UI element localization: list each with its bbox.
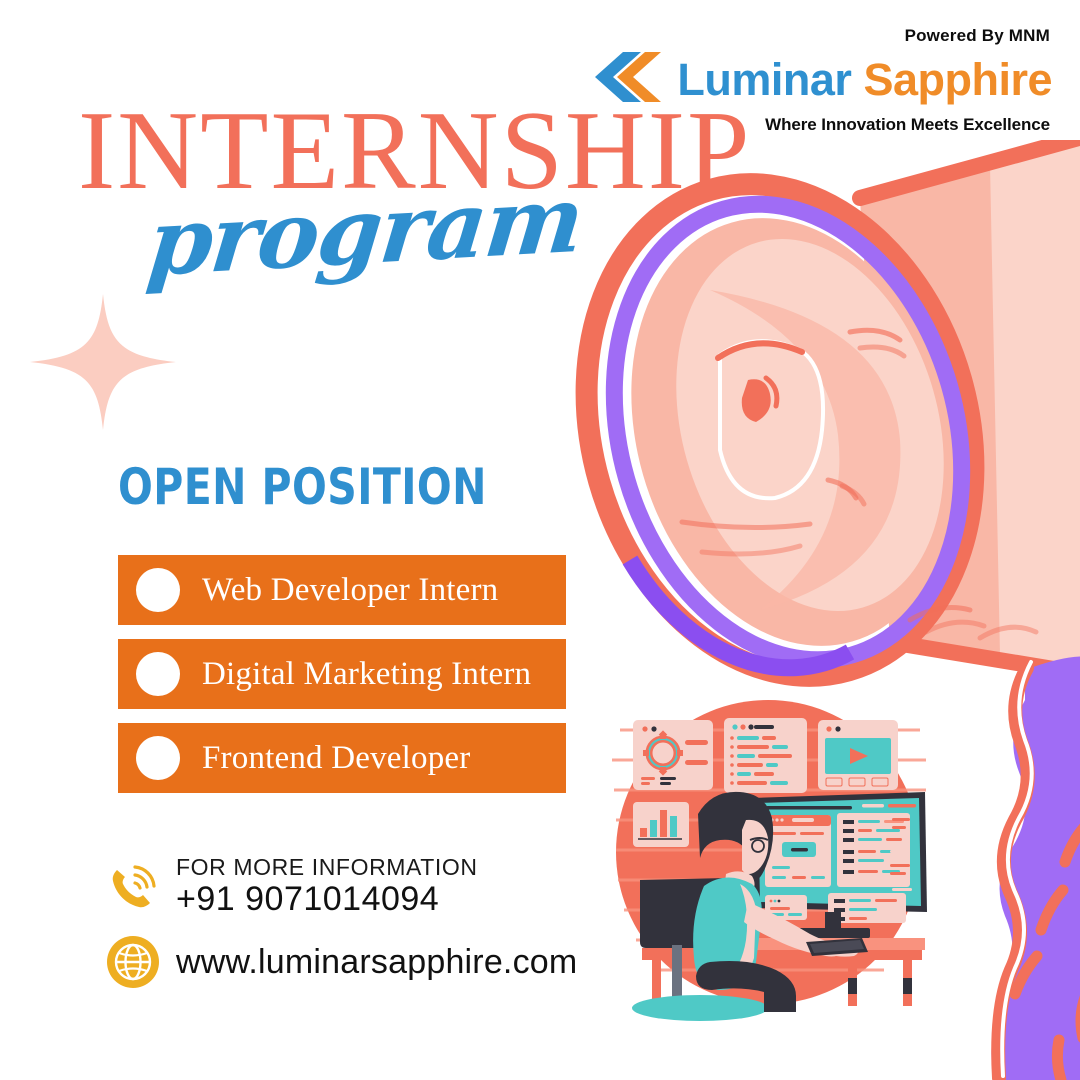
list-item-label: Web Developer Intern bbox=[202, 572, 498, 609]
circle-bullet-icon bbox=[136, 652, 180, 696]
globe-icon bbox=[104, 933, 162, 991]
brand-word-sapphire: Sapphire bbox=[863, 54, 1052, 105]
powered-by-label: Powered By MNM bbox=[612, 26, 1050, 46]
list-item[interactable]: Frontend Developer bbox=[118, 723, 566, 793]
contact-phone-text: FOR MORE INFORMATION +91 9071014094 bbox=[176, 855, 478, 919]
contact-website-row[interactable]: www.luminarsapphire.com bbox=[104, 933, 604, 991]
contact-website-text: www.luminarsapphire.com bbox=[176, 943, 577, 982]
list-item[interactable]: Digital Marketing Intern bbox=[118, 639, 566, 709]
contact-phone-row[interactable]: FOR MORE INFORMATION +91 9071014094 bbox=[104, 855, 604, 919]
internship-poster: Powered By MNM Luminar Sapphire Where In… bbox=[0, 0, 1080, 1080]
page-title-open-position: OPEN POSITION bbox=[118, 458, 487, 516]
phone-ringing-icon bbox=[104, 858, 162, 916]
contact-more-info-label: FOR MORE INFORMATION bbox=[176, 855, 478, 880]
circle-bullet-icon bbox=[136, 568, 180, 612]
open-position-list: Web Developer Intern Digital Marketing I… bbox=[118, 555, 566, 807]
list-item-label: Frontend Developer bbox=[202, 740, 470, 777]
list-item-label: Digital Marketing Intern bbox=[202, 656, 531, 693]
circle-bullet-icon bbox=[136, 736, 180, 780]
contact-block: FOR MORE INFORMATION +91 9071014094 www.… bbox=[104, 855, 604, 1005]
megaphone-icon bbox=[560, 140, 1080, 720]
list-item[interactable]: Web Developer Intern bbox=[118, 555, 566, 625]
contact-phone-number: +91 9071014094 bbox=[176, 880, 478, 919]
four-point-star-icon bbox=[28, 292, 178, 432]
page-title-program: program bbox=[144, 173, 586, 289]
contact-website-url: www.luminarsapphire.com bbox=[176, 943, 577, 982]
person-at-computer-desk-icon bbox=[600, 690, 1000, 1035]
